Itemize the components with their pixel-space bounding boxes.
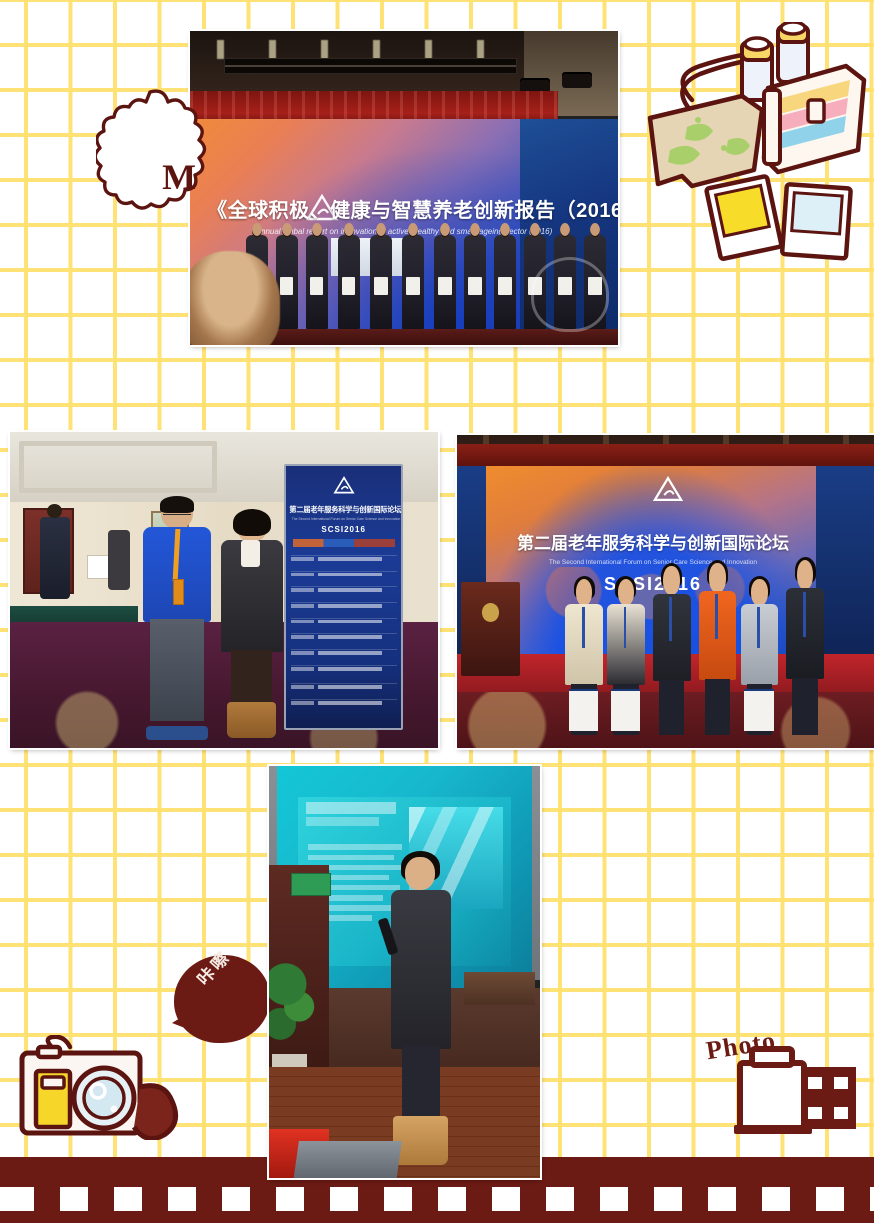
group-member bbox=[699, 563, 737, 735]
travel-set-doodle bbox=[632, 22, 874, 290]
side-table bbox=[464, 972, 534, 1005]
backdrop-title-cn: 第二届老年服务科学与创新国际论坛 bbox=[499, 529, 808, 554]
travel-set-icon bbox=[632, 22, 874, 290]
rollup-schedule-row bbox=[291, 649, 397, 656]
floor-stage-light bbox=[293, 1141, 402, 1178]
group-member bbox=[565, 579, 603, 736]
photo-content: 《全球积极、健康与智慧养老创新报告（2016）》 Annual global r… bbox=[190, 31, 618, 345]
ceiling-coffer bbox=[19, 441, 217, 492]
award-ceremony-photo[interactable]: 《全球积极、健康与智慧养老创新报告（2016）》 Annual global r… bbox=[190, 31, 618, 345]
background-person bbox=[108, 530, 129, 590]
background-person bbox=[40, 517, 70, 599]
bk-triangle-icon bbox=[652, 476, 684, 503]
photo-content: 第二届老年服务科学与创新国际论坛 The Second Internationa… bbox=[457, 435, 874, 748]
photo-watermark bbox=[531, 257, 610, 332]
rollup-banner: 第二届老年服务科学与创新国际论坛 The Second Internationa… bbox=[284, 464, 404, 730]
rollup-logo bbox=[330, 476, 358, 500]
backdrop-title-en: The Second International Forum on Senior… bbox=[499, 559, 808, 566]
rollup-schedule-row bbox=[291, 602, 397, 609]
slide-subheading bbox=[306, 817, 379, 825]
ceremony-participant bbox=[464, 235, 486, 329]
ceremony-participant bbox=[494, 235, 516, 329]
rollup-schedule-row bbox=[291, 683, 397, 690]
backdrop-title-cn: 《全球积极、健康与智慧养老创新报告（2016）》 bbox=[207, 194, 601, 223]
rollup-schedule-row bbox=[291, 665, 397, 672]
slide-heading bbox=[306, 802, 396, 814]
ceremony-participant bbox=[434, 235, 456, 329]
attendee-female bbox=[220, 511, 284, 735]
cloud-doodle: M bbox=[96, 86, 214, 226]
bk-triangle-icon bbox=[333, 476, 355, 495]
group-member bbox=[607, 579, 645, 736]
lighting-truss bbox=[224, 58, 517, 74]
group-member bbox=[786, 560, 824, 735]
rollup-schedule-row bbox=[291, 555, 397, 562]
slide-text-line bbox=[308, 844, 402, 849]
shutter-sound-speech-bubble: 咔嚓 bbox=[174, 955, 278, 1060]
slide-text-line bbox=[308, 855, 394, 860]
exit-sign bbox=[291, 873, 331, 896]
presenting-speaker bbox=[391, 857, 451, 1162]
potted-plant bbox=[269, 947, 318, 1071]
backdrop-right-panel bbox=[816, 466, 874, 660]
rollup-title-en: The Second International Forum on Senior… bbox=[292, 517, 396, 521]
speaker-presentation-photo[interactable] bbox=[269, 766, 540, 1178]
photo-content bbox=[269, 766, 540, 1178]
brand-logo bbox=[649, 476, 687, 520]
rollup-title-cn: 第二届老年服务科学与创新国际论坛 bbox=[289, 505, 398, 515]
cloud-letter: M bbox=[162, 159, 196, 195]
ceremony-participant bbox=[402, 235, 424, 329]
photo-content: 第二届老年服务科学与创新国际论坛 The Second Internationa… bbox=[10, 432, 438, 748]
ceremony-participant bbox=[338, 235, 360, 329]
collage-page: 《全球积极、健康与智慧养老创新报告（2016）》 Annual global r… bbox=[0, 0, 874, 1223]
foreground-audience-head bbox=[190, 251, 280, 345]
rollup-schedule-row bbox=[291, 699, 397, 706]
rollup-code: SCSI2016 bbox=[292, 525, 396, 534]
cloud-outline-icon bbox=[96, 86, 214, 226]
group-member bbox=[741, 579, 779, 736]
pair-with-rollup-banner-photo[interactable]: 第二届老年服务科学与创新国际论坛 The Second Internationa… bbox=[10, 432, 438, 748]
speaking-podium bbox=[461, 582, 519, 676]
group-photo-at-stage[interactable]: 第二届老年服务科学与创新国际论坛 The Second Internationa… bbox=[457, 435, 874, 748]
group-member bbox=[653, 566, 691, 735]
film-strip-perforations bbox=[0, 1187, 874, 1211]
rollup-schedule-row bbox=[291, 586, 397, 593]
rollup-schedule-row bbox=[291, 571, 397, 578]
rollup-section-bar bbox=[293, 539, 395, 547]
attendee-male bbox=[143, 498, 211, 735]
ceremony-participant bbox=[306, 235, 328, 329]
rollup-schedule-row bbox=[291, 618, 397, 625]
film-canister-doodle: Photo bbox=[700, 1025, 870, 1145]
stage-lamp bbox=[562, 72, 592, 88]
rollup-schedule-row bbox=[291, 633, 397, 640]
ceremony-participant bbox=[370, 235, 392, 329]
